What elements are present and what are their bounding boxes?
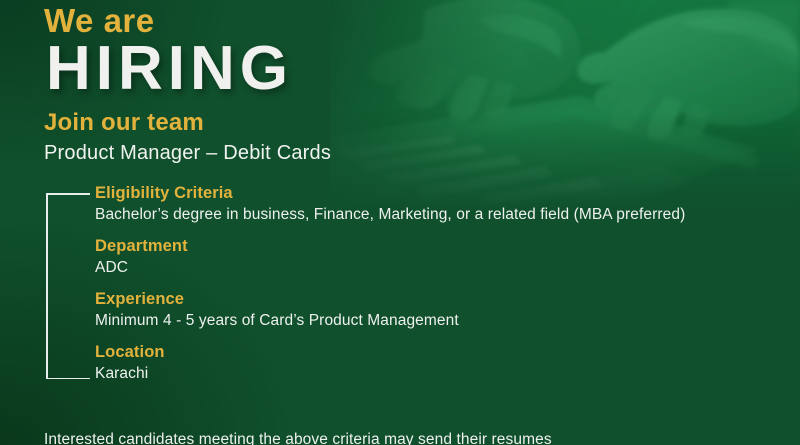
- detail-heading: Experience: [95, 289, 735, 310]
- detail-heading: Department: [95, 236, 735, 257]
- bracket-top-line: [46, 193, 90, 195]
- footer-note: Interested candidates meeting the above …: [44, 430, 764, 445]
- tagline-text: Join our team: [44, 109, 331, 137]
- detail-section-location: Location Karachi: [95, 342, 735, 384]
- job-details-list: Eligibility Criteria Bachelor’s degree i…: [95, 183, 735, 384]
- hiring-poster: We are HIRING Join our team Product Mana…: [0, 0, 800, 445]
- bracket-decoration: [46, 193, 90, 379]
- detail-value: Karachi: [95, 364, 735, 384]
- detail-heading: Location: [95, 342, 735, 363]
- bracket-vertical-line: [46, 193, 48, 379]
- detail-section-experience: Experience Minimum 4 - 5 years of Card’s…: [95, 289, 735, 331]
- headline-group: We are HIRING Join our team Product Mana…: [44, 2, 331, 166]
- detail-value: Minimum 4 - 5 years of Card’s Product Ma…: [95, 311, 735, 331]
- detail-value: ADC: [95, 258, 735, 278]
- detail-section-department: Department ADC: [95, 236, 735, 278]
- detail-value: Bachelor’s degree in business, Finance, …: [95, 205, 735, 225]
- detail-heading: Eligibility Criteria: [95, 183, 735, 204]
- bracket-bottom-line: [46, 378, 90, 380]
- detail-section-eligibility: Eligibility Criteria Bachelor’s degree i…: [95, 183, 735, 225]
- page-title: HIRING: [46, 38, 331, 100]
- job-role-text: Product Manager – Debit Cards: [44, 140, 331, 166]
